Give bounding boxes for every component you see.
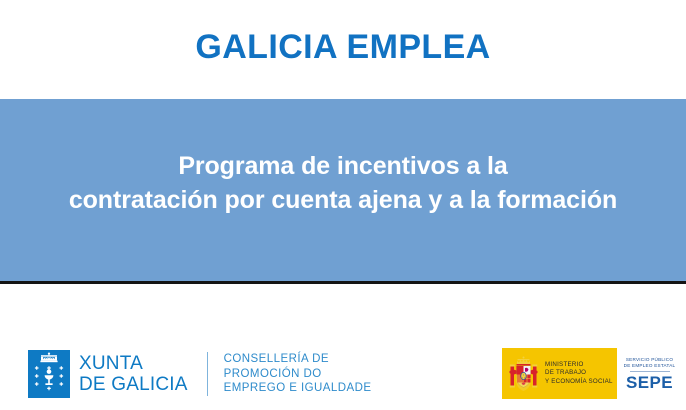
footer-logos: XUNTA DE GALICIA CONSELLERÍA DE PROMOCIÓ… — [0, 287, 686, 410]
spain-coat-of-arms-icon — [509, 356, 538, 392]
ministerio-box: MINISTERIO DE TRABAJO Y ECONOMÍA SOCIAL — [502, 348, 617, 399]
ministerio-line-1: MINISTERIO — [545, 361, 613, 369]
program-banner: Programa de incentivos a la contratación… — [0, 99, 686, 284]
program-heading-line-1: Programa de incentivos a la — [0, 149, 686, 183]
conselleria-line-1: CONSELLERÍA DE — [224, 352, 372, 367]
sepe-box: SERVICIO PÚBLICO DE EMPLEO ESTATAL SEPE — [617, 348, 682, 399]
xunta-wordmark: XUNTA DE GALICIA — [79, 353, 188, 395]
logo-divider — [207, 352, 208, 396]
conselleria-line-3: EMPREGO E IGUALDADE — [224, 381, 372, 396]
ministerio-text: MINISTERIO DE TRABAJO Y ECONOMÍA SOCIAL — [545, 361, 613, 386]
sepe-acronym: SEPE — [626, 373, 673, 392]
program-heading: Programa de incentivos a la contratación… — [0, 149, 686, 231]
sepe-rule — [630, 371, 670, 372]
program-heading-line-2: contratación por cuenta ajena y a la for… — [0, 183, 686, 217]
sepe-name-line-1: SERVICIO PÚBLICO — [624, 357, 676, 363]
sepe-full-name: SERVICIO PÚBLICO DE EMPLEO ESTATAL — [624, 357, 676, 369]
sepe-name-line-2: DE EMPLEO ESTATAL — [624, 363, 676, 369]
xunta-wordmark-line-1: XUNTA — [79, 353, 188, 374]
page-title: GALICIA EMPLEA — [0, 26, 686, 68]
xunta-wordmark-line-2: DE GALICIA — [79, 374, 188, 395]
gobierno-de-espana-logo: MINISTERIO DE TRABAJO Y ECONOMÍA SOCIAL … — [502, 348, 682, 399]
conselleria-line-2: PROMOCIÓN DO — [224, 367, 372, 382]
xunta-de-galicia-logo: XUNTA DE GALICIA CONSELLERÍA DE PROMOCIÓ… — [28, 349, 372, 399]
ministerio-line-3: Y ECONOMÍA SOCIAL — [545, 378, 613, 386]
ministerio-line-2: DE TRABAJO — [545, 369, 613, 377]
xunta-emblem-icon — [28, 350, 70, 398]
conselleria-name: CONSELLERÍA DE PROMOCIÓN DO EMPREGO E IG… — [224, 352, 372, 396]
